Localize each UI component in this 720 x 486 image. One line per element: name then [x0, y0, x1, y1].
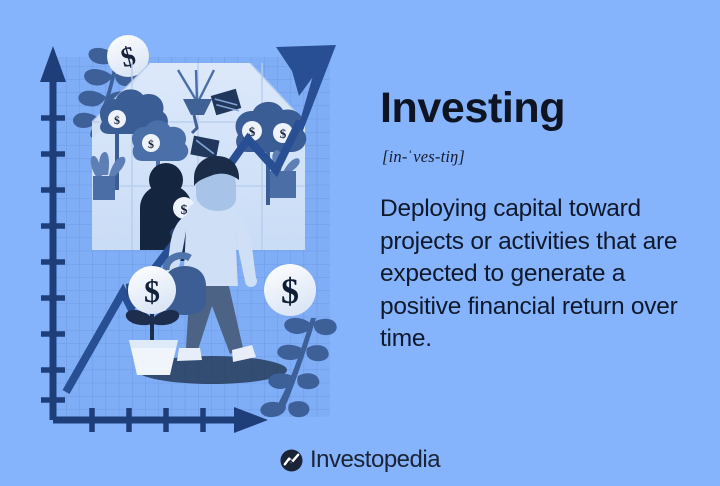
- pronunciation: [in-ˈves-tiŋ]: [382, 147, 700, 167]
- potted-money-plant: $: [126, 266, 179, 375]
- dollar-coin-right: $: [264, 264, 316, 316]
- svg-text:$: $: [114, 113, 120, 127]
- svg-text:$: $: [281, 271, 299, 311]
- svg-text:$: $: [280, 126, 287, 141]
- definition-text: Deploying capital toward projects or act…: [380, 193, 698, 356]
- page-title: Investing: [380, 86, 700, 131]
- svg-text:$: $: [144, 273, 160, 309]
- investing-illustration: $: [0, 0, 370, 440]
- brand-name: Investopedia: [310, 448, 440, 472]
- definition-card: $: [0, 0, 720, 486]
- definition-text-column: Investing [in-ˈves-tiŋ] Deploying capita…: [380, 86, 700, 356]
- investopedia-mark-icon: [280, 449, 303, 472]
- svg-text:$: $: [148, 137, 154, 151]
- brand-footer: Investopedia: [0, 448, 720, 472]
